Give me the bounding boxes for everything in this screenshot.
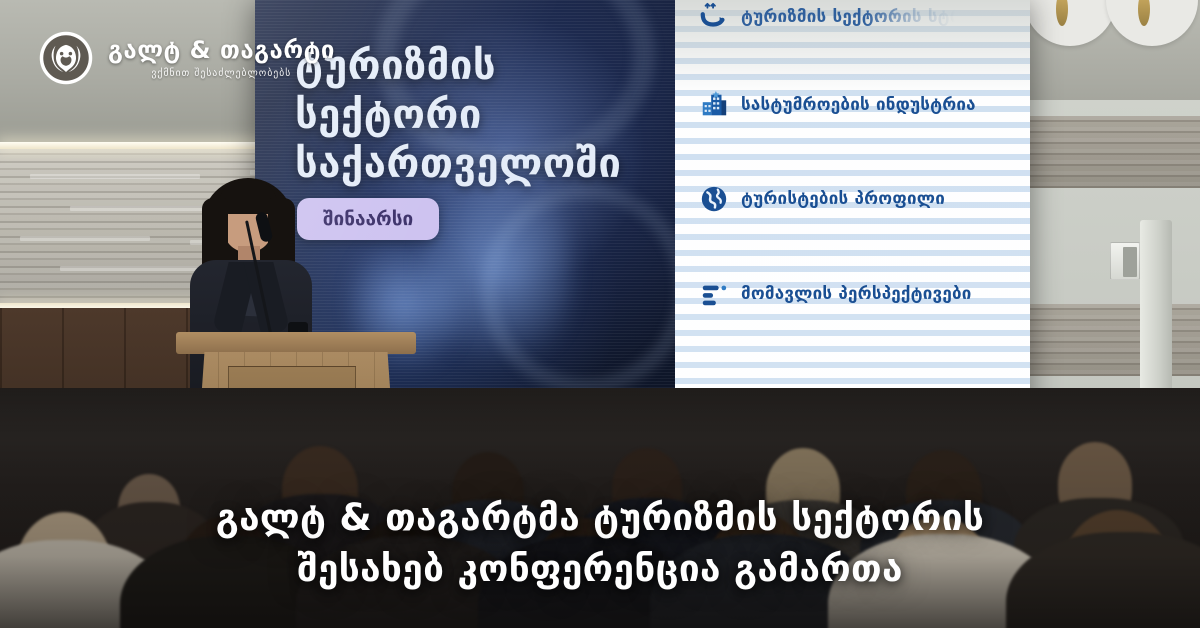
agenda-item: მომავლის პერსპექტივები [699, 279, 1020, 309]
globe-icon [699, 184, 729, 214]
agenda-item-label: მომავლის პერსპექტივები [741, 284, 972, 304]
acoustic-disc [1024, 0, 1116, 46]
slide-contents-badge: შინაარსი [297, 198, 439, 240]
agenda-item: სასტუმროების ინდუსტრია [699, 90, 1020, 120]
agenda-item-label: ტურისტების პროფილი [741, 189, 945, 209]
slide-title-line-2: სექტორი [295, 91, 665, 140]
slide-agenda-panel: ტურიზმის სექტორის სტრ [675, 0, 1030, 412]
headline: გალტ & თაგარტმა ტურიზმის სექტორის შესახე… [0, 492, 1200, 594]
agenda-item-label: სასტუმროების ინდუსტრია [741, 95, 976, 115]
agenda-item: ტურისტების პროფილი [699, 184, 1020, 214]
podium-top [176, 332, 416, 354]
hotel-building-icon [699, 90, 729, 120]
slide-title: ტურიზმის სექტორი საქართველოში [295, 42, 665, 188]
headline-line-2: შესახებ კონფერენცია გამართა [40, 543, 1160, 594]
brand-wordmark: გალტ & თაგარტი [108, 38, 335, 62]
slide-title-line-1: ტურიზმის [295, 42, 665, 91]
agenda-item: ტურიზმის სექტორის სტრ [699, 2, 1020, 32]
agenda-list: ტურიზმის სექტორის სტრ [675, 0, 1030, 412]
bar-list-icon [699, 279, 729, 309]
ram-emblem-icon [38, 30, 94, 86]
wall-speaker-icon [1110, 242, 1140, 280]
brand-logo: გალტ & თაგარტი ვქმნით შესაძლებლობებს [38, 30, 335, 86]
headline-line-1: გალტ & თაგარტმა ტურიზმის სექტორის [216, 496, 984, 539]
growth-hand-icon [699, 2, 729, 32]
stone-band [1020, 116, 1200, 188]
promo-banner: ტურიზმის სექტორი საქართველოში შინაარსი [0, 0, 1200, 628]
brand-wordmark-group: გალტ & თაგარტი ვქმნით შესაძლებლობებს [108, 38, 335, 79]
brand-tagline: ვქმნით შესაძლებლობებს [108, 68, 335, 79]
stone-band [1020, 304, 1200, 376]
slide-title-line-3: საქართველოში [295, 140, 665, 189]
agenda-item-label: ტურიზმის სექტორის სტრ [741, 7, 964, 27]
acoustic-disc [1106, 0, 1198, 46]
